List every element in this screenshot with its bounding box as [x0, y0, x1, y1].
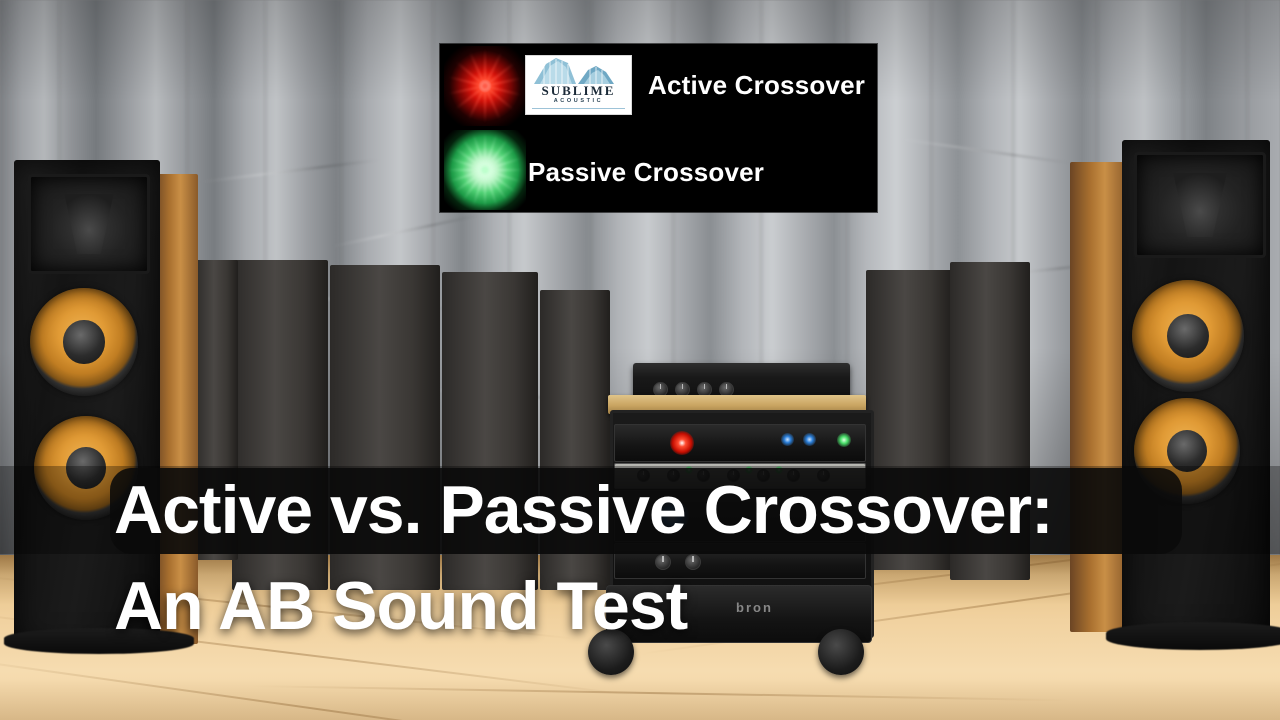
horn-tweeter [1134, 152, 1266, 258]
green-glow-rays [444, 130, 526, 210]
legend-row-active: SUBLIME ACOUSTIC Active Crossover [440, 44, 877, 128]
red-power-led [670, 431, 694, 455]
green-glow-icon [444, 130, 526, 210]
legend-panel: SUBLIME ACOUSTIC Active Crossover [440, 44, 877, 212]
page-title: Active vs. Passive Crossover: An AB Soun… [114, 462, 1234, 654]
logo-wordmark: SUBLIME [526, 83, 631, 99]
video-thumbnail: bron [0, 0, 1280, 720]
woofer-upper [1132, 280, 1244, 392]
logo-subtext: ACOUSTIC [526, 98, 631, 104]
active-crossover-unit [633, 363, 850, 399]
mountain-logo-icon [526, 56, 631, 84]
legend-label-passive: Passive Crossover [528, 157, 764, 188]
title-line-1: Active vs. Passive Crossover: [114, 462, 1234, 558]
red-glow-rays [444, 46, 526, 126]
rack-unit-amplifier [614, 424, 866, 462]
meter-led-blue [781, 433, 794, 446]
meter-led-blue [803, 433, 816, 446]
red-glow-icon [444, 46, 526, 126]
legend-label-active: Active Crossover [648, 70, 865, 101]
woofer-upper [30, 288, 138, 396]
legend-row-passive: Passive Crossover [440, 128, 877, 212]
sublime-acoustic-logo: SUBLIME ACOUSTIC [525, 55, 632, 115]
title-line-2: An AB Sound Test [114, 558, 1234, 654]
meter-led-green [837, 433, 851, 447]
logo-divider [532, 108, 625, 109]
horn-tweeter [28, 174, 150, 274]
